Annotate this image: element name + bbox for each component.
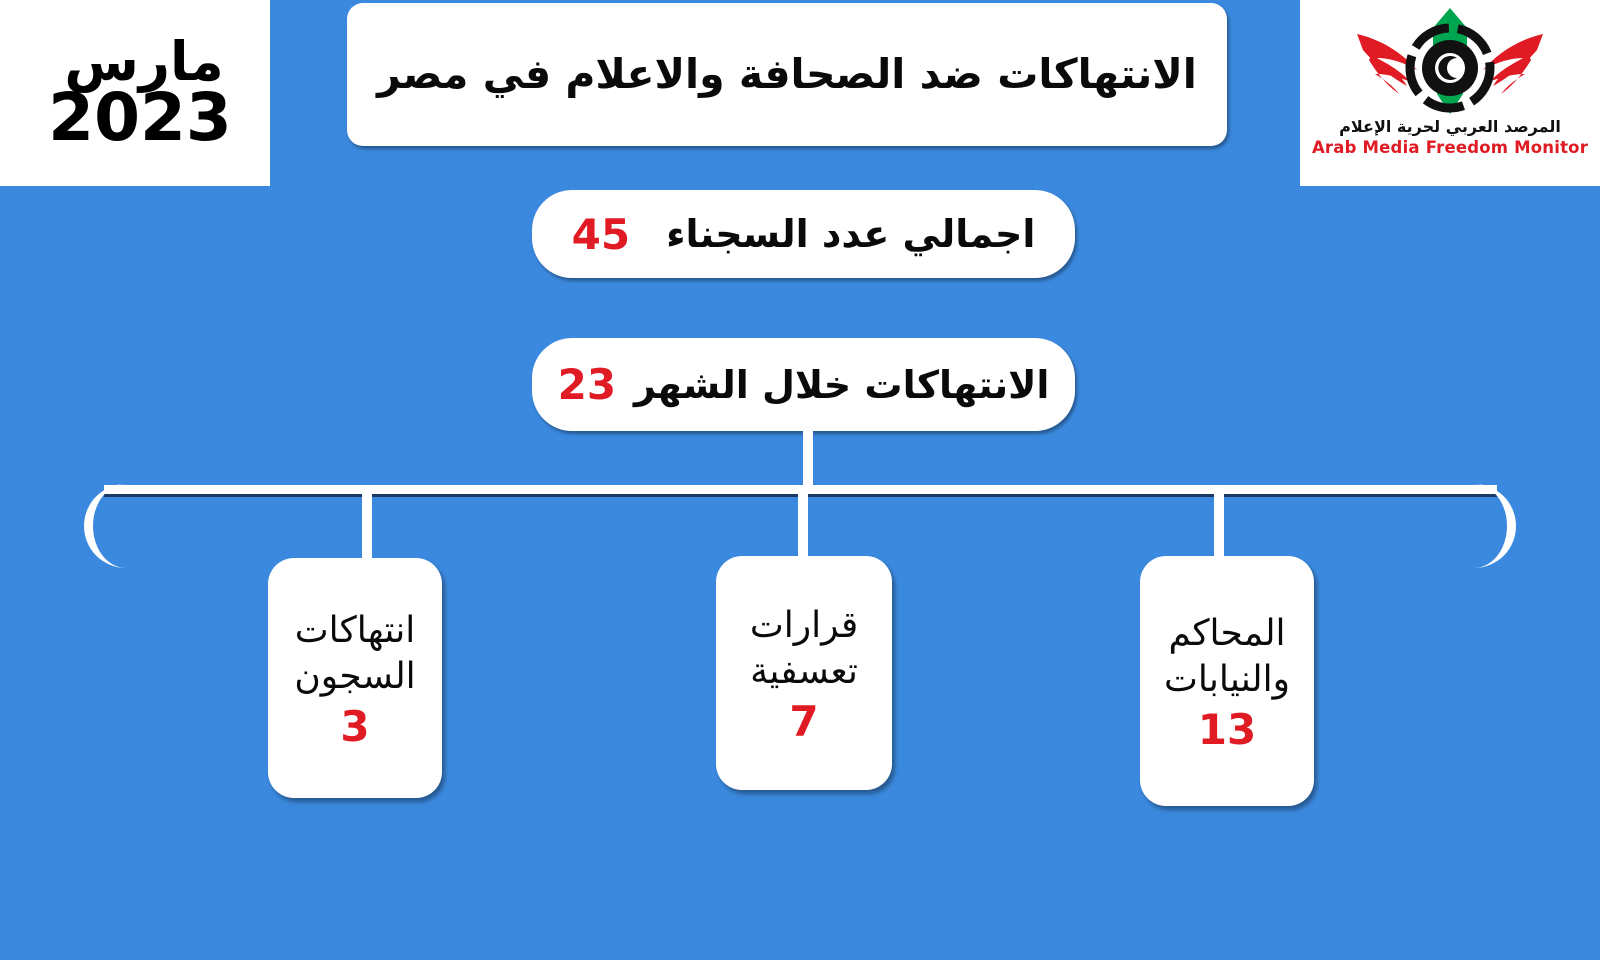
arab-media-freedom-monitor-logo-icon xyxy=(1345,6,1555,116)
stat-total-prisoners: اجمالي عدد السجناء 45 xyxy=(532,190,1075,278)
page-title: الانتهاكات ضد الصحافة والاعلام في مصر xyxy=(377,49,1197,100)
title-card: الانتهاكات ضد الصحافة والاعلام في مصر xyxy=(347,3,1227,146)
breakdown-card-arbitrary-value: 7 xyxy=(789,701,818,743)
date-plaque: مارس 2023 xyxy=(0,0,270,186)
connector-drop-arbitrary xyxy=(798,490,808,562)
connector-drop-courts xyxy=(1214,490,1224,560)
stat-total-prisoners-value: 45 xyxy=(572,210,630,259)
stat-total-prisoners-label: اجمالي عدد السجناء xyxy=(666,212,1035,256)
breakdown-card-prisons-label: انتهاكات السجون xyxy=(294,608,415,700)
breakdown-card-courts: المحاكم والنيابات 13 xyxy=(1140,556,1314,806)
stat-monthly-violations-value: 23 xyxy=(558,360,616,409)
infographic-canvas: مارس 2023 الانتهاكات ضد الصحافة والاعلام… xyxy=(0,0,1600,960)
breakdown-card-arbitrary-label: قرارات تعسفية xyxy=(750,603,858,695)
connector-stem xyxy=(803,428,813,489)
breakdown-card-prisons: انتهاكات السجون 3 xyxy=(268,558,442,798)
breakdown-card-courts-label: المحاكم والنيابات xyxy=(1164,611,1290,703)
breakdown-card-arbitrary: قرارات تعسفية 7 xyxy=(716,556,892,790)
breakdown-card-prisons-value: 3 xyxy=(340,706,369,748)
logo-name-arabic: المرصد العربي لحرية الإعلام xyxy=(1339,117,1561,136)
date-year: 2023 xyxy=(38,85,232,151)
bracket-right-icon xyxy=(1460,484,1516,568)
stat-monthly-violations-label: الانتهاكات خلال الشهر xyxy=(634,363,1049,407)
bracket-left-icon xyxy=(84,484,140,568)
stat-monthly-violations: الانتهاكات خلال الشهر 23 xyxy=(532,338,1075,431)
logo-name-english: Arab Media Freedom Monitor xyxy=(1312,138,1588,157)
logo-block: المرصد العربي لحرية الإعلام Arab Media F… xyxy=(1300,0,1600,186)
breakdown-card-courts-value: 13 xyxy=(1198,709,1256,751)
